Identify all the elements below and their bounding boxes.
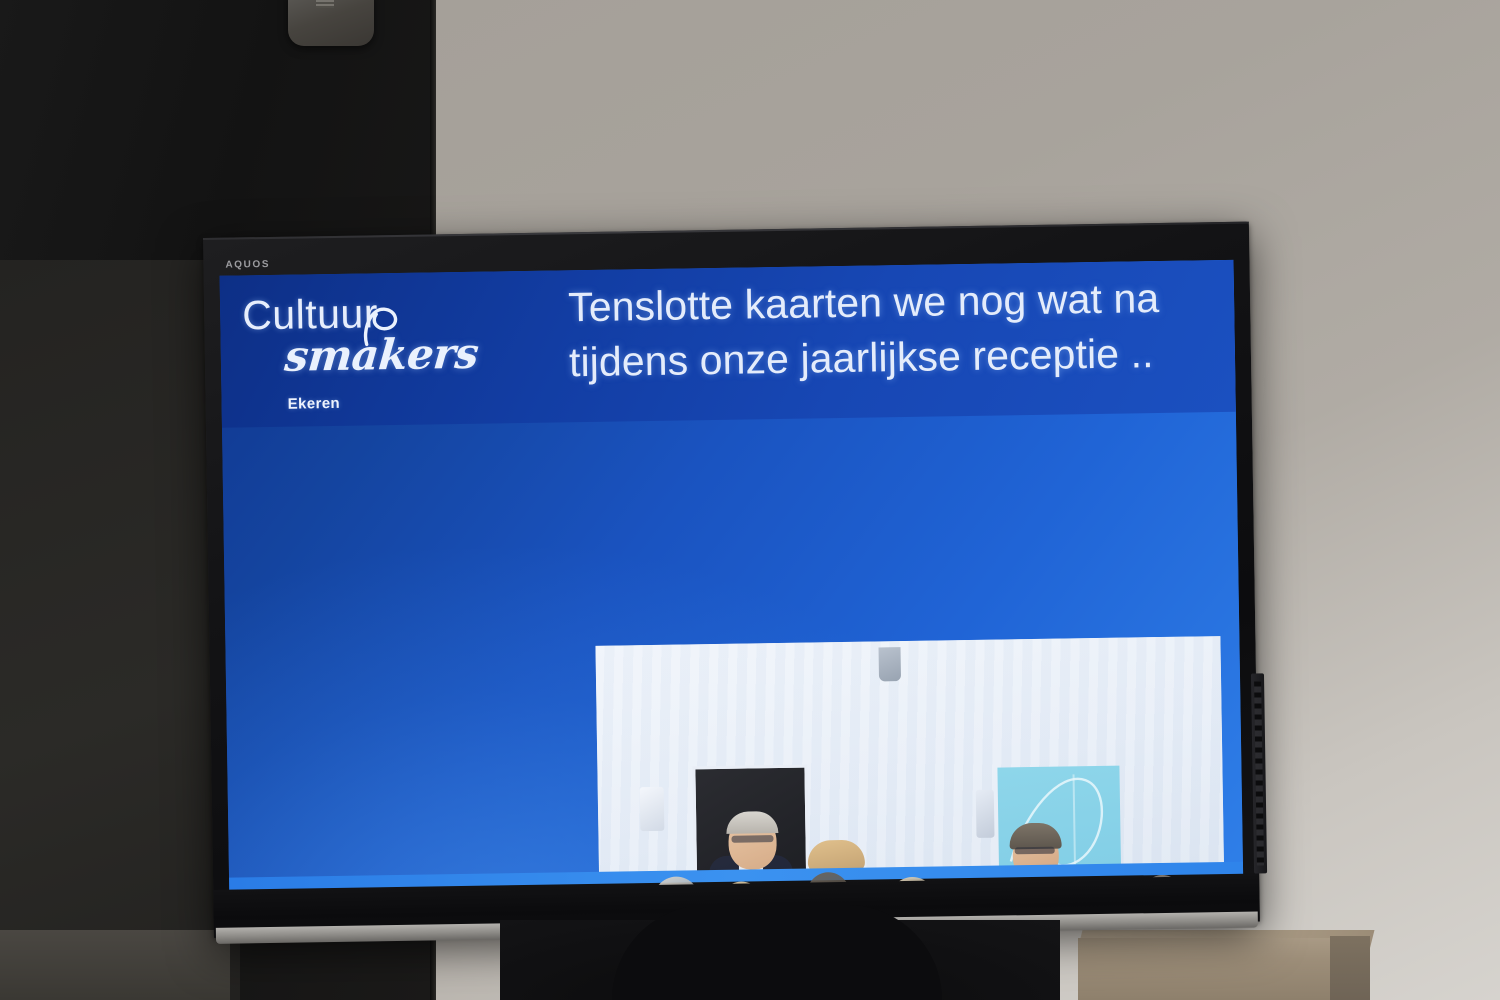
presentation-slide: Tenslotte kaarten we nog wat na tijdens … (220, 260, 1244, 892)
wall-speaker-sensor-icon (288, 0, 374, 46)
photo-glasses-icon-right (1015, 847, 1055, 855)
photo-ceiling-sensor-icon (879, 647, 902, 681)
slide-headline: Tenslotte kaarten we nog wat na tijdens … (568, 266, 1236, 389)
photo-glasses-icon-left (731, 835, 773, 843)
foreground-person-head (612, 905, 942, 1000)
photo-wall-switch-right (976, 790, 995, 838)
logo-smakers-wrap: smakers (242, 328, 493, 382)
room-scene: AQUOS Tenslotte kaarten we nog wat na ti… (0, 0, 1500, 1000)
photo-wall-switch-left (640, 787, 665, 831)
speaker-grill (316, 0, 334, 8)
logo-word-smakers: smakers (283, 329, 481, 381)
wall-dark-lower (0, 260, 240, 1000)
podium-side-face (1330, 936, 1370, 1000)
photo-wall-texture (595, 636, 1227, 892)
logo-word-ekeren: Ekeren (287, 392, 493, 412)
tv-screen[interactable]: Tenslotte kaarten we nog wat na tijdens … (220, 260, 1244, 892)
sharp-aquos-display[interactable]: AQUOS Tenslotte kaarten we nog wat na ti… (203, 222, 1260, 938)
headline-line-1: Tenslotte kaarten we nog wat na (568, 266, 1236, 335)
wall-baseboard (0, 930, 230, 1000)
wooden-block-podium (1078, 938, 1370, 1000)
cultuursmakers-logo: Cultuur smakers Ekeren (242, 291, 494, 413)
aquos-brand-label: AQUOS (225, 259, 270, 271)
slide-photo: kers (595, 636, 1227, 892)
